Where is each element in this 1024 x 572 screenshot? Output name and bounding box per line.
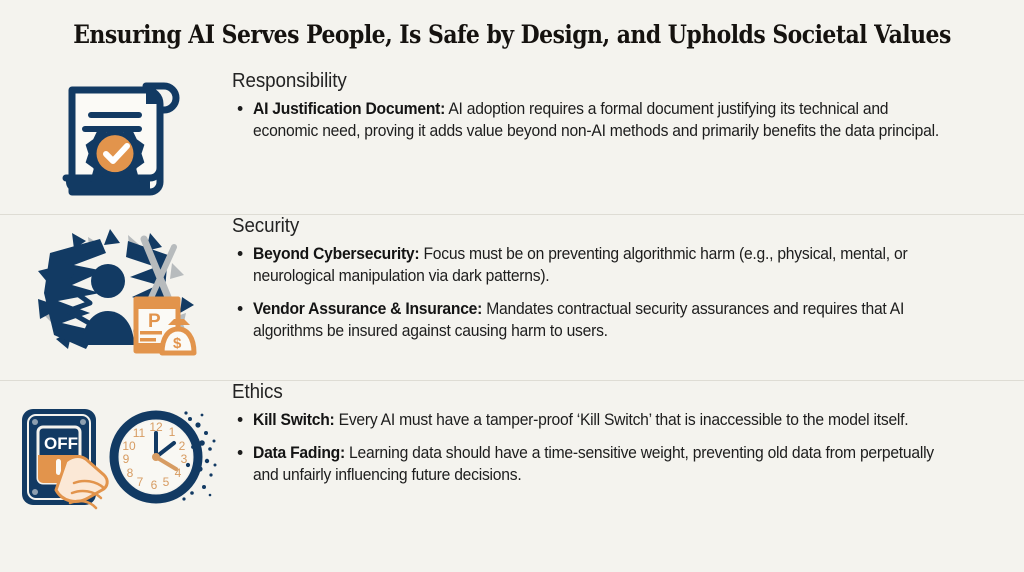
list-item: Vendor Assurance & Insurance: Mandates c… [232,298,956,342]
bullet-list-responsibility: AI Justification Document: AI adoption r… [232,98,990,142]
bullet-lead: Kill Switch: [253,411,335,429]
svg-text:7: 7 [136,475,143,489]
list-item: Data Fading: Learning data should have a… [232,442,956,486]
text-column: Ethics Kill Switch: Every AI must have a… [232,381,1024,486]
section-ethics: OFF 12 1 2 3 4 5 [0,381,1024,556]
section-security: P $ Security Beyond Cybersecurity: Focus… [0,215,1024,380]
section-heading-responsibility: Responsibility [232,70,945,93]
svg-text:8: 8 [126,466,133,480]
svg-text:6: 6 [150,478,157,492]
svg-text:11: 11 [132,426,145,440]
icon-column: OFF 12 1 2 3 4 5 [0,381,232,519]
text-column: Responsibility AI Justification Document… [232,70,1024,142]
section-heading-ethics: Ethics [232,381,945,404]
bullet-list-ethics: Kill Switch: Every AI must have a tamper… [232,409,990,486]
bullet-list-security: Beyond Cybersecurity: Focus must be on p… [232,243,990,343]
kill-switch-clock-icon: OFF 12 1 2 3 4 5 [14,399,219,519]
svg-text:2: 2 [178,439,185,453]
page-title: Ensuring AI Serves People, Is Safe by De… [72,20,953,50]
section-heading-security: Security [232,215,945,238]
infographic-page: Ensuring AI Serves People, Is Safe by De… [0,0,1024,572]
bullet-lead: Data Fading: [253,444,345,462]
bullet-lead: Vendor Assurance & Insurance: [253,300,482,318]
bullet-dot-icon [238,417,243,422]
icon-column [0,70,232,200]
certificate-document-icon [50,78,182,200]
shattered-shield-person-icon: P $ [32,227,200,359]
bullet-body: Learning data should have a time-sensiti… [253,444,934,484]
list-item: AI Justification Document: AI adoption r… [232,98,956,142]
policy-doc-letter: P [148,311,161,332]
bullet-lead: AI Justification Document: [253,100,445,118]
bullet-lead: Beyond Cybersecurity: [253,245,419,263]
svg-text:5: 5 [162,475,169,489]
svg-text:10: 10 [122,439,136,453]
text-column: Security Beyond Cybersecurity: Focus mus… [232,215,1024,343]
bullet-body: Every AI must have a tamper-proof ‘Kill … [335,411,909,429]
svg-text:9: 9 [122,452,129,466]
section-responsibility: Responsibility AI Justification Document… [0,70,1024,214]
bullet-dot-icon [238,306,243,311]
bullet-dot-icon [238,450,243,455]
svg-text:$: $ [173,335,182,352]
bullet-dot-icon [238,251,243,256]
switch-off-label: OFF [44,434,78,453]
list-item: Kill Switch: Every AI must have a tamper… [232,409,956,431]
list-item: Beyond Cybersecurity: Focus must be on p… [232,243,956,287]
bullet-dot-icon [238,106,243,111]
icon-column: P $ [0,215,232,359]
svg-text:1: 1 [168,425,175,439]
